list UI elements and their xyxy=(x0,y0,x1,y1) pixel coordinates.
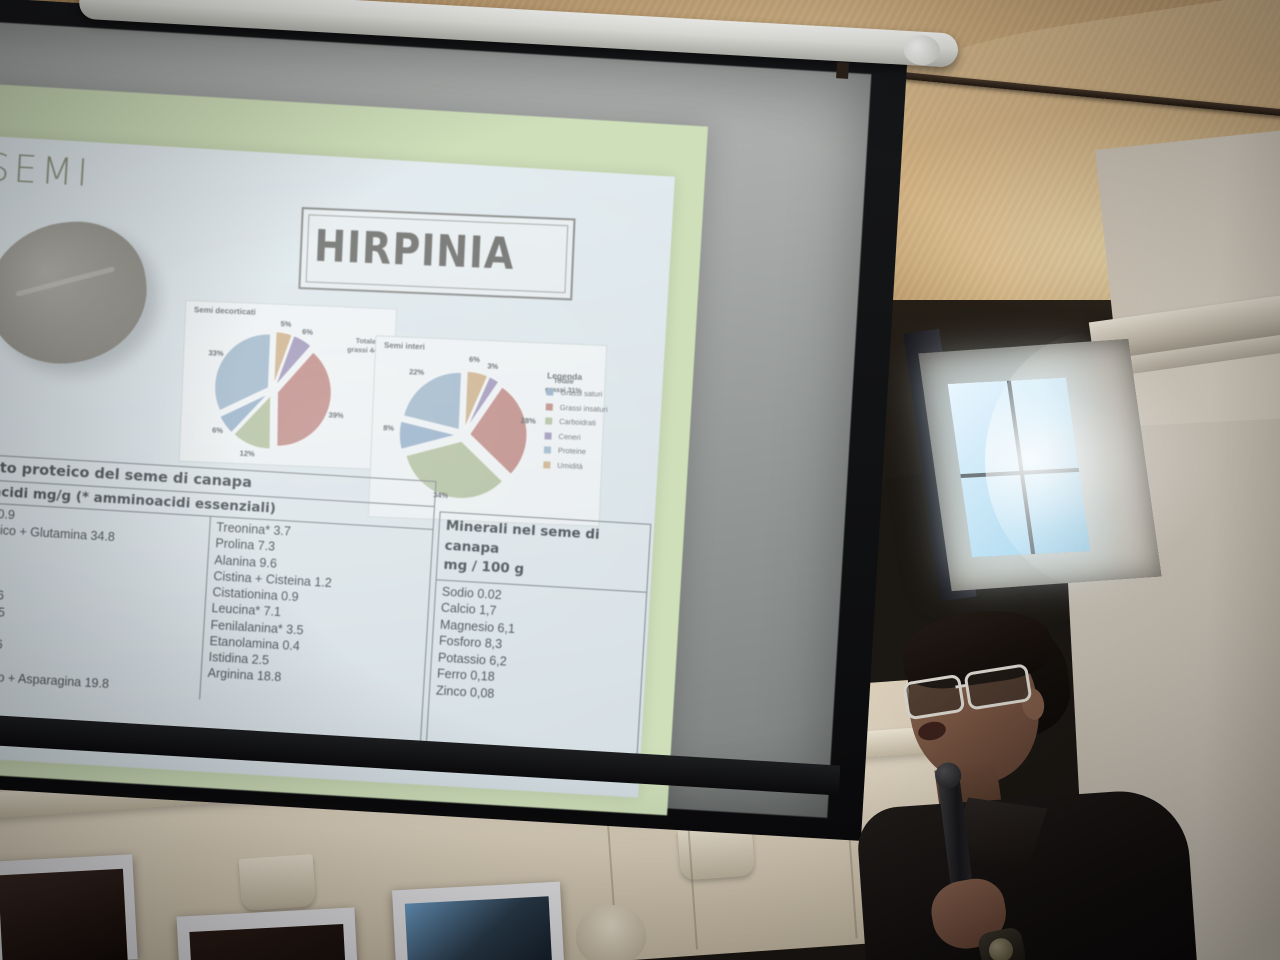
slide-title: SEMI xyxy=(0,146,93,195)
protein-table-columns: Fosfoserina 0.9Acido glutamico + Glutami… xyxy=(0,500,433,713)
legend-swatch-icon xyxy=(546,388,553,395)
minerals-rows: Sodio 0.02Calcio 1,7Magnesio 6,1Fosforo … xyxy=(429,580,646,714)
legend-item: Umidità xyxy=(543,460,643,473)
pie-slice-label: 12% xyxy=(239,449,254,459)
pie-slice-label: 6% xyxy=(302,327,313,336)
amino-acid-column-right: Treonina* 3.7Prolina 7.3Alanina 9.6Cisti… xyxy=(200,517,432,713)
hirpinia-logo: HIRPINIA xyxy=(298,207,575,300)
window xyxy=(948,378,1091,557)
photograph-scene: SEMI HIRPINIA Semi decorticati xyxy=(0,0,1280,960)
pie-slice-label: 8% xyxy=(383,423,394,432)
legend-item: Grassi saturi xyxy=(546,387,646,400)
pie-chart-panel-decorticati: Semi decorticati Totale grassi 44% 5%6%3… xyxy=(179,300,398,471)
protein-table: Contenuto proteico del seme di canapa Am… xyxy=(0,451,436,763)
legend-item: Carboidrati xyxy=(545,416,645,429)
pie-caption-interi: Semi interi xyxy=(384,341,425,352)
pie-slice-label: 33% xyxy=(208,348,223,358)
screen-surface: SEMI HIRPINIA Semi decorticati xyxy=(0,16,871,818)
legend-swatch-icon xyxy=(545,417,552,424)
pie-slice-label: 22% xyxy=(409,367,424,377)
pie-slice-label: 39% xyxy=(328,410,343,420)
column-capital-left xyxy=(239,854,316,911)
legend-item: Ceneri xyxy=(544,431,644,444)
photo-image-2 xyxy=(189,924,345,960)
photo-image-1 xyxy=(0,869,128,960)
slide-background: SEMI HIRPINIA Semi decorticati xyxy=(0,79,708,815)
framed-photo-2 xyxy=(177,907,358,960)
legend-item-label: Grassi saturi xyxy=(560,388,602,399)
framed-photo-1 xyxy=(0,854,138,960)
seed-crease xyxy=(15,266,115,297)
pie-slice-label: 3% xyxy=(487,362,498,371)
wristwatch-face xyxy=(987,936,1015,960)
pie-slice-label: 6% xyxy=(469,355,480,364)
framed-photo-3 xyxy=(392,882,564,960)
legend-item-label: Grassi insaturi xyxy=(560,402,608,413)
pie-svg-decorticati xyxy=(198,322,354,464)
legend-item-label: Umidità xyxy=(557,460,583,470)
screen-mount-bracket xyxy=(836,62,849,79)
legend-swatch-icon xyxy=(544,446,551,453)
legend-swatch-icon xyxy=(543,461,550,468)
chart-legend: Legenda Grassi saturiGrassi insaturiCarb… xyxy=(543,370,647,478)
legend-item-label: Ceneri xyxy=(558,431,580,441)
legend-swatch-icon xyxy=(544,432,551,439)
legend-item: Proteine xyxy=(544,445,644,458)
legend-swatch-icon xyxy=(546,403,553,410)
legend-title: Legenda xyxy=(547,370,647,384)
amino-acid-column-left: Fosfoserina 0.9Acido glutamico + Glutami… xyxy=(0,500,211,700)
projection-screen: SEMI HIRPINIA Semi decorticati xyxy=(0,0,958,844)
logo-text: HIRPINIA xyxy=(313,220,515,279)
legend-item-label: Carboidrati xyxy=(559,417,596,428)
pie-slice-label: 5% xyxy=(280,319,291,328)
legend-rows: Grassi saturiGrassi insaturiCarboidratiC… xyxy=(543,387,646,473)
photo-image-3 xyxy=(405,896,552,960)
minerals-table-header: Minerali nel seme di canapa mg / 100 g xyxy=(437,512,651,592)
slide: SEMI HIRPINIA Semi decorticati xyxy=(0,134,675,798)
pie-total-line1: Totale xyxy=(356,338,376,346)
pie-caption-decorticati: Semi decorticati xyxy=(194,305,256,317)
window-mullion-vertical xyxy=(1007,381,1035,555)
presenter xyxy=(880,590,1280,960)
pie-slice xyxy=(403,370,462,430)
legend-item-label: Proteine xyxy=(558,446,586,456)
minerals-table: Minerali nel seme di canapa mg / 100 g S… xyxy=(425,511,651,765)
legend-item: Grassi insaturi xyxy=(546,402,646,415)
pie-slice-label: 6% xyxy=(212,426,223,435)
hemp-seed-photo xyxy=(0,212,157,374)
pie-slice-label: 28% xyxy=(521,416,536,426)
